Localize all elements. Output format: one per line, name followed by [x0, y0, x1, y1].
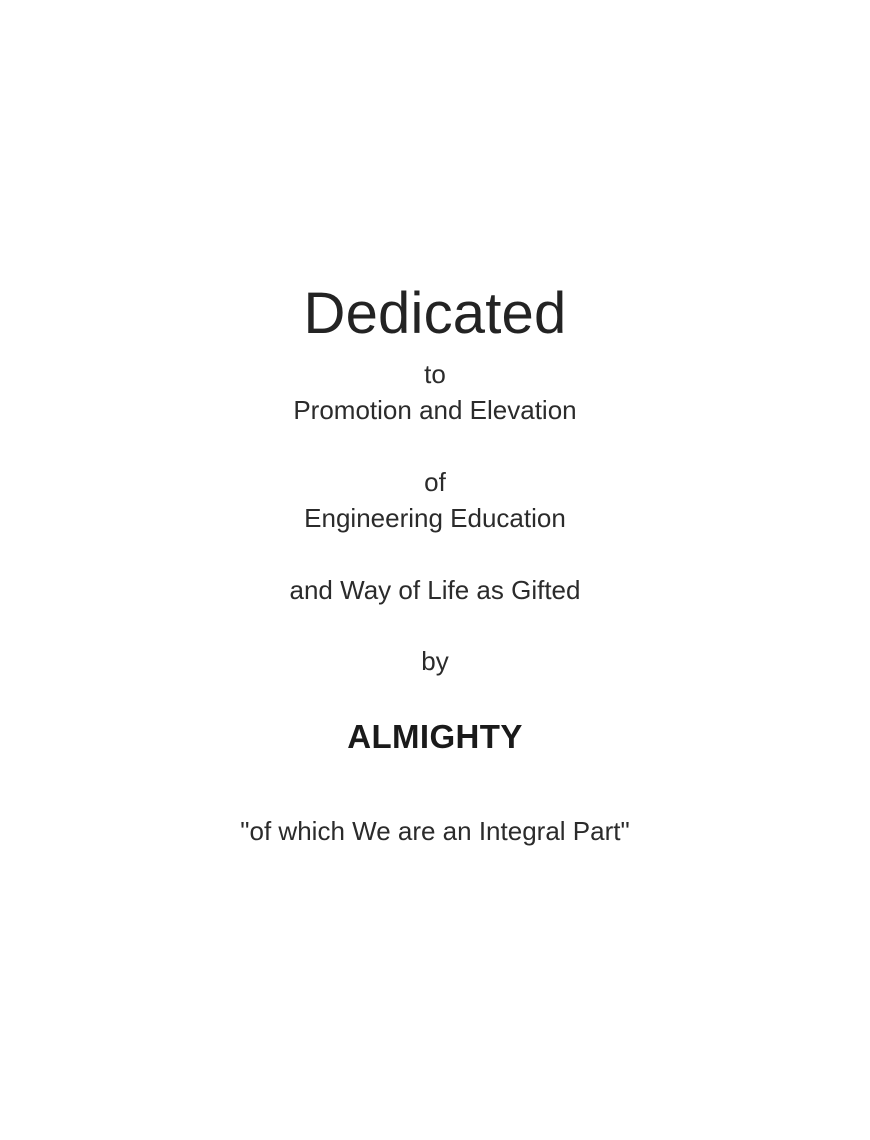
dedication-preposition-by: by	[0, 643, 870, 679]
dedication-subject-promotion-elevation: Promotion and Elevation	[0, 392, 870, 428]
dedication-closing-quote: "of which We are an Integral Part"	[0, 813, 870, 849]
dedication-preposition-to: to	[0, 356, 870, 392]
dedication-subject-engineering-education: Engineering Education	[0, 500, 870, 536]
dedication-page: Dedicated to Promotion and Elevation of …	[0, 0, 870, 1140]
dedication-subject-way-of-life: and Way of Life as Gifted	[0, 572, 870, 608]
dedication-preposition-of: of	[0, 464, 870, 500]
dedication-title: Dedicated	[0, 285, 870, 343]
dedication-attribution-almighty: ALMIGHTY	[0, 719, 870, 755]
